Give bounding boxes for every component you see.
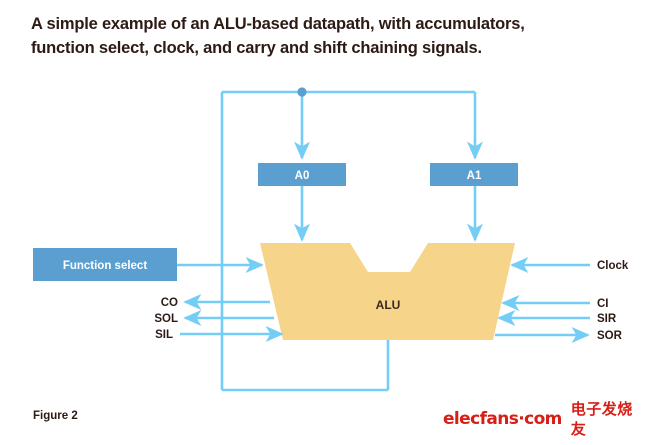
site-logo: elecfans·com 电子发烧友 xyxy=(443,406,645,432)
alu-label: ALU xyxy=(376,298,401,312)
signal-sil-label: SIL xyxy=(155,329,173,341)
signal-co-label: CO xyxy=(161,297,178,309)
function-select-label: Function select xyxy=(63,260,148,272)
alu-datapath-diagram: ALU A0 A1 Function select CO SOL SIL Clo… xyxy=(0,0,645,445)
logo-latin-text: elecfans·com xyxy=(443,409,562,429)
accumulator-a0-label: A0 xyxy=(295,170,310,182)
alu-shape xyxy=(260,243,515,340)
figure-number-label: Figure 2 xyxy=(33,410,78,422)
signal-sol-label: SOL xyxy=(154,313,178,325)
signal-ci-label: CI xyxy=(597,298,609,310)
accumulator-a1-label: A1 xyxy=(467,170,482,182)
figure-page: A simple example of an ALU-based datapat… xyxy=(0,0,645,445)
bus-wires xyxy=(222,87,475,390)
signal-sor-label: SOR xyxy=(597,330,623,342)
logo-chinese-text: 电子发烧友 xyxy=(571,399,645,439)
bus-junction-dot xyxy=(297,87,306,96)
signal-clock-label: Clock xyxy=(597,260,629,272)
signal-sir-label: SIR xyxy=(597,313,617,325)
